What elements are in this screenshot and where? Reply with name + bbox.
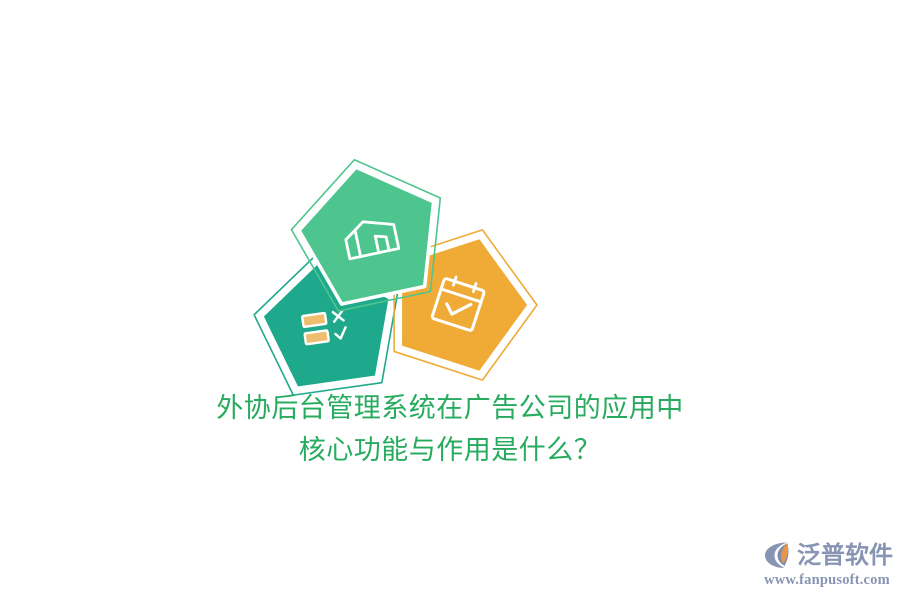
brand-url: www.fanpusoft.com: [764, 571, 890, 589]
page-title-line-2: 核心功能与作用是什么？: [0, 430, 900, 472]
pentagon-cluster-illustration: [255, 160, 545, 395]
brand-watermark: 泛普软件 www.fanpusoft.com: [762, 534, 892, 592]
brand-logo-row: 泛普软件: [761, 538, 893, 572]
fanpu-swoosh-logo-icon: [761, 539, 793, 571]
page-root: 外协后台管理系统在广告公司的应用中 核心功能与作用是什么？ 泛普软件 www.f…: [0, 0, 900, 600]
checklist-bar-1: [302, 313, 326, 327]
page-title-line-1: 外协后台管理系统在广告公司的应用中: [0, 388, 900, 430]
brand-name: 泛普软件: [797, 539, 893, 571]
checklist-bar-2: [305, 330, 329, 344]
page-title: 外协后台管理系统在广告公司的应用中 核心功能与作用是什么？: [0, 388, 900, 472]
